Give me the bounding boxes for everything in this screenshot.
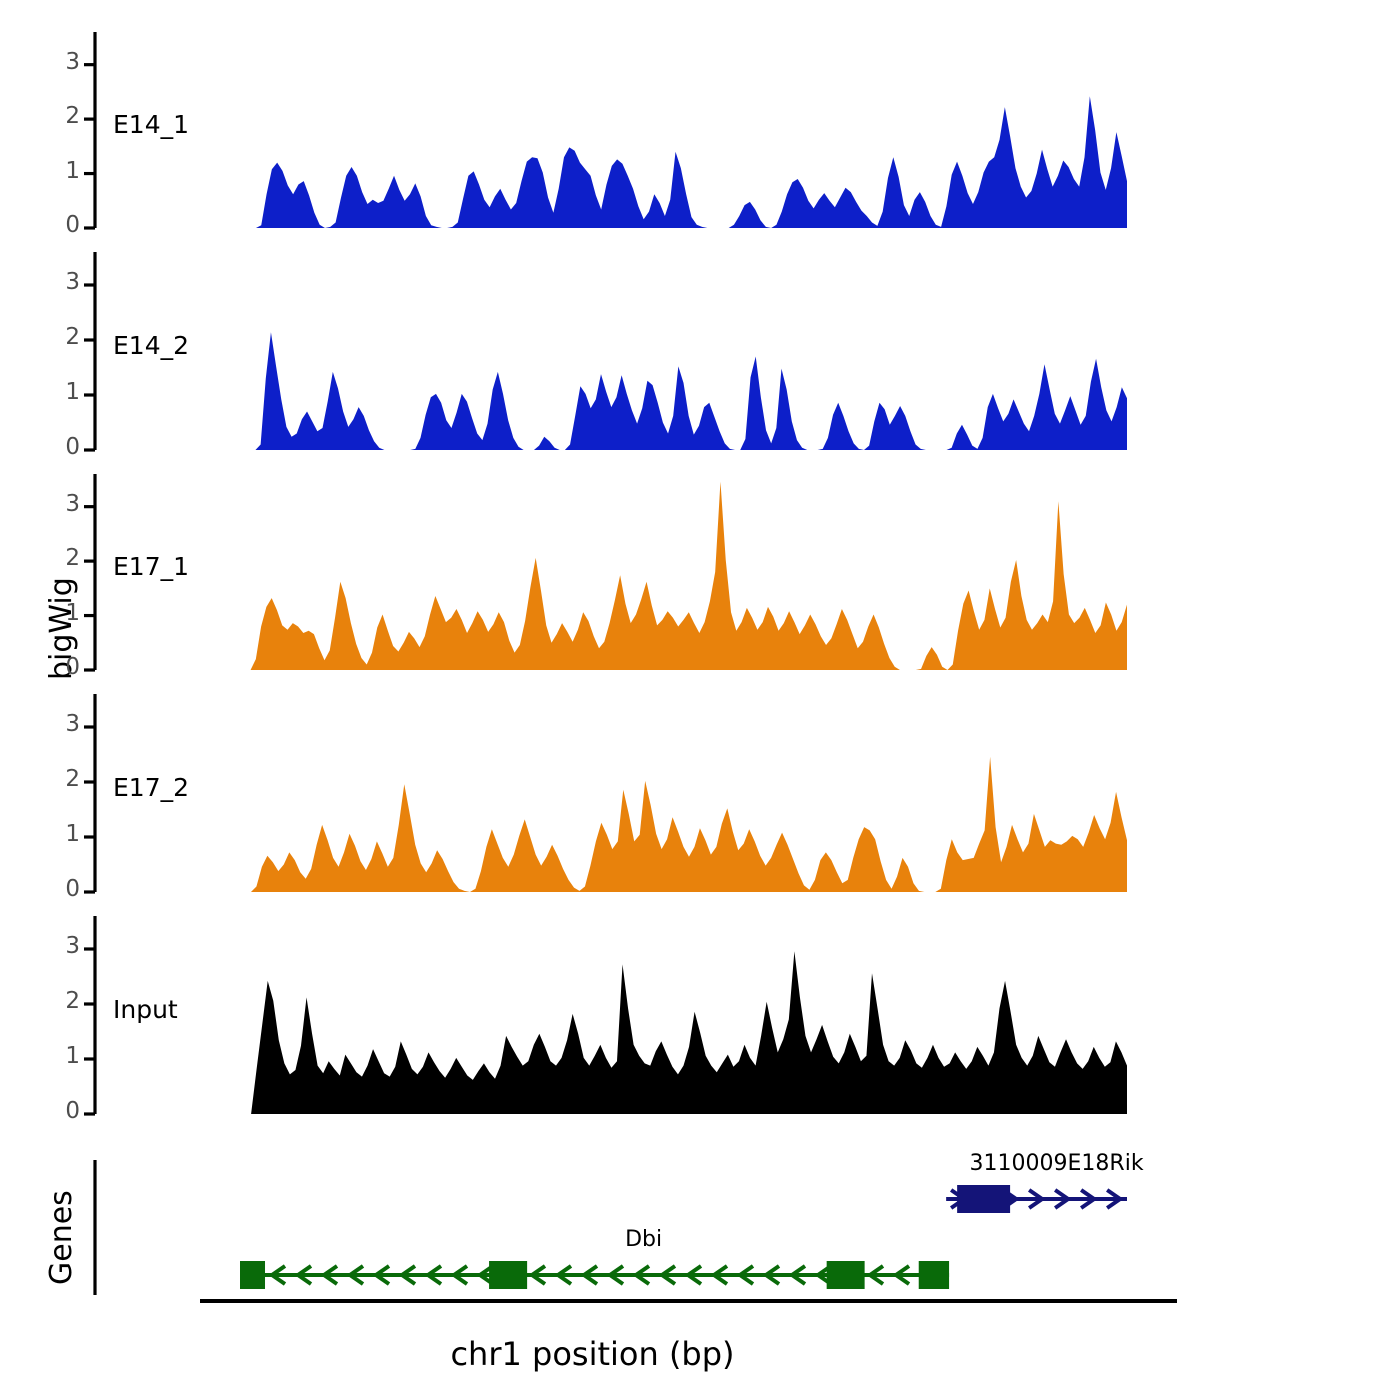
y-tick-label-E17_2-1: 1 [25, 821, 80, 847]
y-tick-label-E17_1-3: 3 [25, 491, 80, 517]
genome-browser-plot [0, 0, 1400, 1400]
y-tick-label-E17_2-0: 0 [25, 876, 80, 902]
y-tick-label-E14_2-0: 0 [25, 434, 80, 460]
panel-label-Input: Input [113, 995, 178, 1024]
y-tick-label-Input-3: 3 [25, 933, 80, 959]
signal-area-E14_2 [240, 332, 1127, 450]
y-tick-label-E17_2-2: 2 [25, 766, 80, 792]
signal-area-E14_1 [240, 96, 1127, 228]
gene-label-Dbi: Dbi [484, 1227, 804, 1252]
gene-exon [489, 1261, 527, 1289]
signal-area-Input [240, 951, 1127, 1114]
x-axis-title: chr1 position (bp) [0, 1335, 1185, 1373]
y-tick-label-E17_2-3: 3 [25, 711, 80, 737]
y-tick-label-E14_2-1: 1 [25, 379, 80, 405]
y-tick-label-E17_1-1: 1 [25, 600, 80, 626]
y-tick-label-E14_1-3: 3 [25, 49, 80, 75]
gene-exon [240, 1261, 265, 1289]
y-tick-label-E17_1-2: 2 [25, 545, 80, 571]
gene-3110009E18Rik[interactable] [946, 1185, 1127, 1213]
gene-exon [827, 1261, 865, 1289]
gene-label-3110009E18Rik: 3110009E18Rik [897, 1151, 1217, 1176]
signal-area-E17_1 [240, 482, 1127, 670]
y-tick-label-E17_1-0: 0 [25, 654, 80, 680]
gene-exon [957, 1185, 1010, 1213]
panel-label-E14_1: E14_1 [113, 110, 189, 139]
y-tick-label-Input-2: 2 [25, 988, 80, 1014]
y-tick-label-E14_2-3: 3 [25, 269, 80, 295]
gene-exon [919, 1261, 949, 1289]
y-tick-label-Input-1: 1 [25, 1043, 80, 1069]
y-tick-label-E14_1-1: 1 [25, 158, 80, 184]
y-tick-label-Input-0: 0 [25, 1098, 80, 1124]
y-tick-label-E14_1-2: 2 [25, 103, 80, 129]
gene-Dbi[interactable] [240, 1261, 949, 1289]
y-tick-label-E14_2-2: 2 [25, 324, 80, 350]
y-tick-label-E14_1-0: 0 [25, 212, 80, 238]
signal-area-E17_2 [240, 757, 1127, 892]
panel-label-E17_2: E17_2 [113, 773, 189, 802]
panel-label-E14_2: E14_2 [113, 331, 189, 360]
panel-label-E17_1: E17_1 [113, 552, 189, 581]
genes-axis-title: Genes [44, 1190, 79, 1285]
